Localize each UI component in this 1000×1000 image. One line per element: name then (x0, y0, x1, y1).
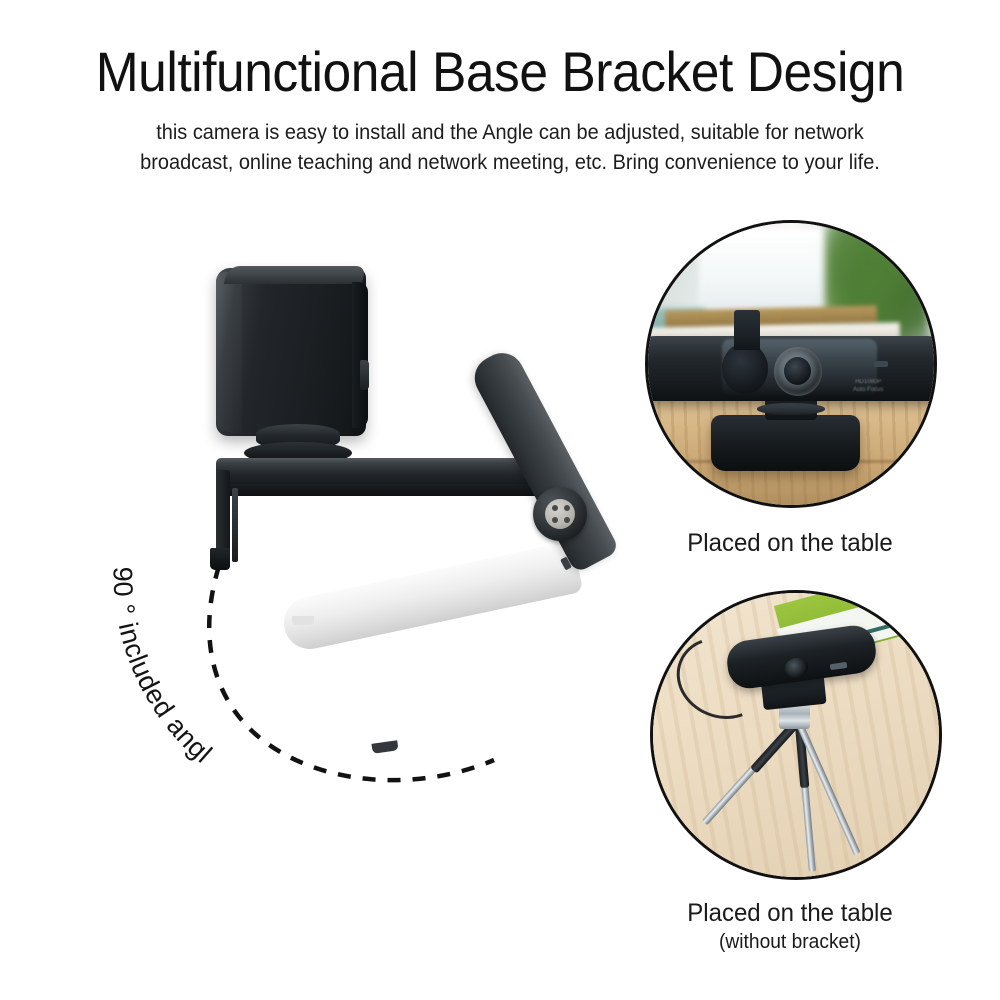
status-led (874, 361, 888, 367)
privacy-shutter-tab (734, 310, 760, 349)
camera-side-port (360, 360, 369, 390)
caption-bottom-subtext: (without bracket) (598, 929, 982, 955)
hinge-knob-dial (545, 499, 575, 529)
privacy-shutter (722, 343, 768, 394)
product-feature-image: Multifunctional Base Bracket Design this… (0, 0, 1000, 1000)
caption-photo-bottom: Placed on the table (without bracket) (598, 898, 982, 955)
bracket-arm (216, 458, 550, 486)
camera-head-side-panel (216, 270, 242, 434)
hinge-knob-hole (552, 517, 558, 523)
photo-bottom-content (653, 593, 939, 877)
body-spec-label: HD1080P Auto Focus (837, 378, 900, 394)
caption-top-text: Placed on the table (687, 529, 893, 557)
webcam-neck-ring (757, 403, 826, 414)
bracket-leg-folded-ghost-notch (292, 616, 314, 625)
camera-lens-core (784, 357, 811, 385)
camera-head-front-edge (352, 282, 368, 428)
caption-bottom-text: Placed on the table (687, 899, 893, 927)
bracket-clip-left-inner (232, 488, 238, 562)
photo-top-content: HD1080P Auto Focus (648, 223, 934, 505)
bracket-illustration: 90 ° included angle (0, 0, 660, 1000)
hinge-knob-hole (552, 505, 558, 511)
bracket-arm-underside (222, 484, 544, 496)
caption-photo-top: Placed on the table (598, 528, 982, 559)
photo-webcam-on-desk: HD1080P Auto Focus (645, 220, 937, 508)
background-window (699, 229, 825, 319)
bracket-clip-left-tip (210, 548, 230, 570)
photo-webcam-on-tripod (650, 590, 942, 880)
camera-head-top-panel (224, 266, 366, 284)
webcam-base-clip (711, 415, 860, 471)
body-spec-line1: HD1080P (855, 379, 881, 385)
hinge-knob-hole (564, 517, 570, 523)
hinge-knob-hole (564, 505, 570, 511)
body-spec-line2: Auto Focus (853, 387, 883, 393)
